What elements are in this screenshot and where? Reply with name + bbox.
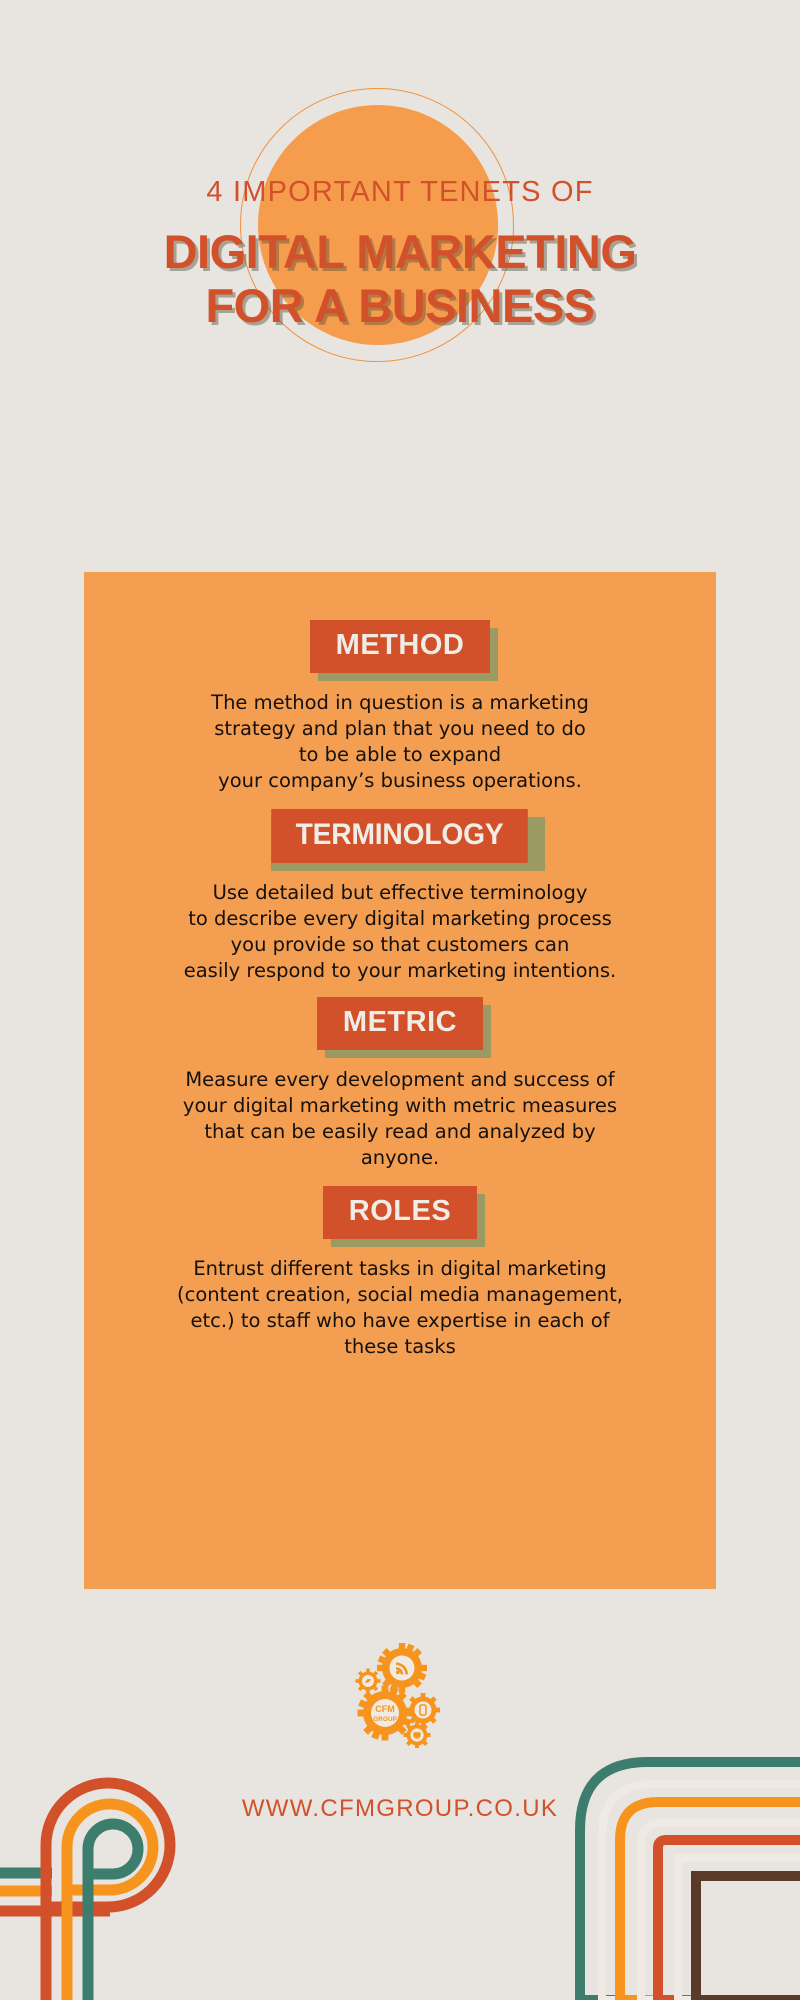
body-line: easily respond to your marketing intenti… [120,958,680,984]
body-line: your company’s business operations. [120,768,680,794]
gear-small-left [356,1669,381,1694]
body-line: (content creation, social media manageme… [120,1282,680,1308]
gear-mobile [406,1693,440,1727]
section-metric-body: Measure every development and success of… [120,1067,680,1171]
section-metric: METRIC Measure every development and suc… [84,997,716,1171]
decor-retro-arcs-right [540,1710,800,2000]
page-title: DIGITAL MARKETING FOR A BUSINESS [0,225,800,332]
body-line: Use detailed but effective terminology [120,880,680,906]
section-method-tag-wrapper: METHOD [310,620,491,673]
body-line: etc.) to staff who have expertise in eac… [120,1308,680,1334]
section-method: METHOD The method in question is a marke… [84,620,716,794]
logo-text-group: GROUP [373,1716,398,1723]
section-metric-tag-wrapper: METRIC [317,997,483,1050]
section-method-tag: METHOD [310,620,491,673]
gear-cfm-group: CFM GROUP [358,1686,413,1741]
section-roles-body: Entrust different tasks in digital marke… [120,1256,680,1360]
page-title-line1: DIGITAL MARKETING [164,225,637,278]
header-section: 4 IMPORTANT TENETS OF DIGITAL MARKETING … [0,0,800,420]
body-line: these tasks [120,1334,680,1360]
page-title-line2: FOR A BUSINESS [0,279,800,333]
body-line: to describe every digital marketing proc… [120,906,680,932]
decor-retro-loop-left [0,1735,200,2000]
section-terminology-tag-wrapper: TERMINOLOGY [263,809,536,863]
section-roles-tag-wrapper: ROLES [323,1186,477,1239]
section-metric-tag: METRIC [317,997,483,1050]
body-line: The method in question is a marketing [120,690,680,716]
body-line: to be able to expand [120,742,680,768]
cfm-group-logo: CFM GROUP [355,1638,445,1748]
section-terminology-body: Use detailed but effective terminology t… [120,880,680,984]
body-line: strategy and plan that you need to do [120,716,680,742]
header-eyebrow: 4 IMPORTANT TENETS OF [0,178,800,207]
logo-text-cfm: CFM [375,1704,395,1714]
section-terminology: TERMINOLOGY Use detailed but effective t… [84,809,716,984]
body-line: you provide so that customers can [120,932,680,958]
content-panel: METHOD The method in question is a marke… [84,572,716,1589]
header-text-group: 4 IMPORTANT TENETS OF DIGITAL MARKETING … [0,0,800,332]
body-line: your digital marketing with metric measu… [120,1093,680,1119]
section-roles-tag: ROLES [323,1186,477,1239]
body-line: that can be easily read and analyzed by [120,1119,680,1145]
body-line: Measure every development and success of [120,1067,680,1093]
section-roles: ROLES Entrust different tasks in digital… [84,1186,716,1360]
section-terminology-tag: TERMINOLOGY [272,809,529,863]
gear-monitor [404,1722,431,1749]
body-line: anyone. [120,1145,680,1171]
section-method-body: The method in question is a marketing st… [120,690,680,794]
body-line: Entrust different tasks in digital marke… [120,1256,680,1282]
infographic-page: 4 IMPORTANT TENETS OF DIGITAL MARKETING … [0,0,800,2000]
